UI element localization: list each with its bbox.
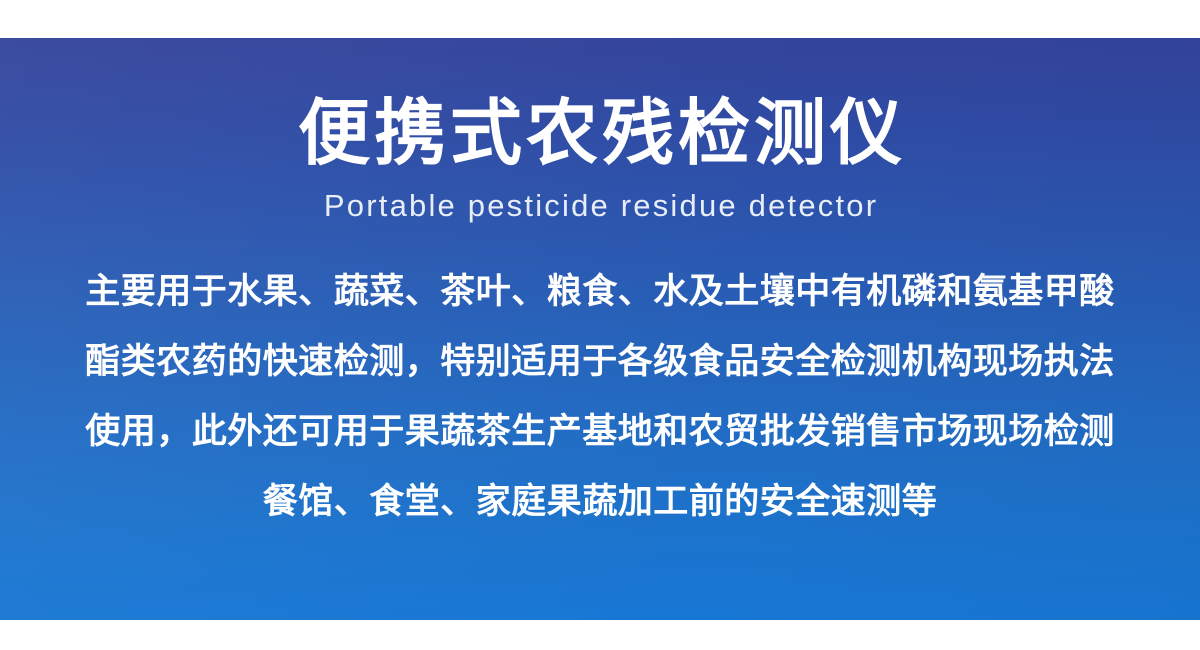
page-subtitle: Portable pesticide residue detector [322,190,879,221]
product-banner: 便携式农残检测仪 Portable pesticide residue dete… [0,0,1200,650]
banner-content: 便携式农残检测仪 Portable pesticide residue dete… [0,38,1200,620]
description-line: 主要用于水果、蔬菜、茶叶、粮食、水及土壤中有机磷和氨基甲酸 [5,257,1195,327]
description-line: 使用，此外还可用于果蔬茶生产基地和农贸批发销售市场现场检测 [5,397,1195,467]
description-block: 主要用于水果、蔬菜、茶叶、粮食、水及土壤中有机磷和氨基甲酸 酯类农药的快速检测，… [5,257,1195,537]
page-title: 便携式农残检测仪 [294,98,906,170]
description-line: 酯类农药的快速检测，特别适用于各级食品安全检测机构现场执法 [5,327,1195,397]
gradient-background-panel: 便携式农残检测仪 Portable pesticide residue dete… [0,38,1200,620]
description-line: 餐馆、食堂、家庭果蔬加工前的安全速测等 [5,467,1195,537]
